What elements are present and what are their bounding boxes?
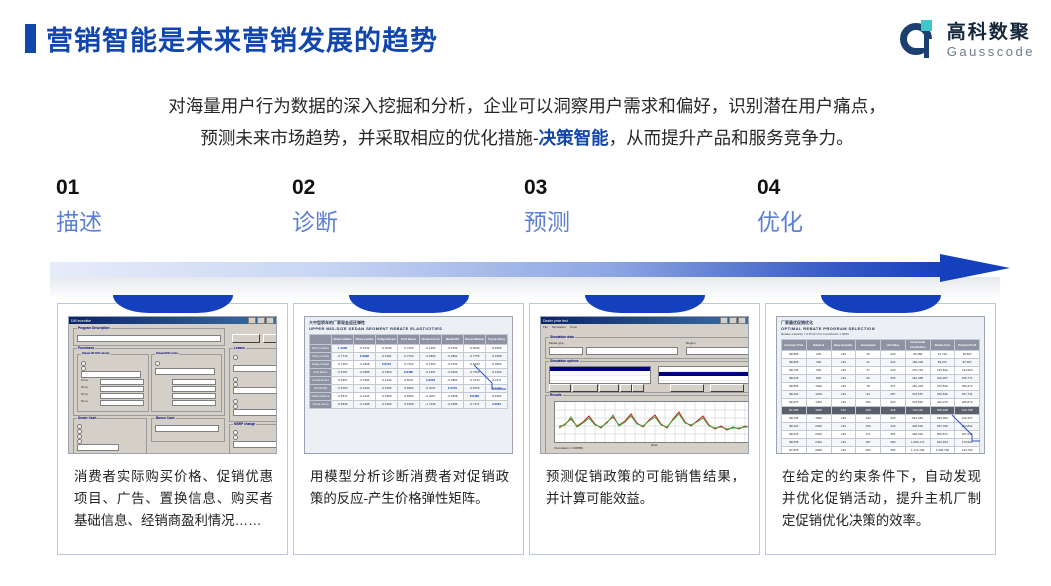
matrix-cell: -0.5047 bbox=[398, 377, 420, 385]
optimal-cell: 140 bbox=[831, 447, 856, 455]
optimal-cell: 333 bbox=[881, 415, 906, 423]
matrix-corner bbox=[310, 335, 332, 345]
matrix-cell: -0.1988 bbox=[354, 401, 376, 409]
diagonal-annotation-line bbox=[472, 363, 506, 397]
edit-button[interactable] bbox=[599, 384, 619, 392]
matrix-cell: 0.9480 bbox=[398, 369, 420, 377]
optimal-cell: 224 bbox=[881, 359, 906, 367]
group-title: Dealer Cash bbox=[77, 416, 97, 420]
move-down-button[interactable] bbox=[632, 384, 644, 392]
menu-simulation[interactable]: Simulation bbox=[552, 325, 566, 329]
optimal-cell: 340,846 bbox=[930, 391, 955, 399]
card-diagnose[interactable]: 大中型轿车的厂家现金返还弹性 UPPER MID-SIZE SEDAN SEGM… bbox=[293, 303, 524, 555]
optimal-cell: 302 bbox=[881, 399, 906, 407]
select-all-button[interactable] bbox=[670, 384, 704, 392]
optimal-cell: $8,905 bbox=[782, 359, 807, 367]
optimal-cell: 631,852 bbox=[905, 399, 930, 407]
windows-simulation-mock: Dealer price test File Simulation Tools … bbox=[541, 317, 748, 453]
group-title: Bonus Cash bbox=[155, 416, 176, 420]
window-menubar[interactable]: File Simulation Tools bbox=[541, 324, 748, 329]
combo-term-60[interactable] bbox=[172, 400, 216, 406]
step-label: 诊断 bbox=[292, 205, 522, 239]
matrix-cell: -0.2794 bbox=[442, 345, 464, 353]
optimal-col-header: Unit Sales bbox=[881, 340, 906, 351]
optimal-cell: 1,083,174 bbox=[905, 439, 930, 447]
save-button[interactable] bbox=[232, 334, 260, 343]
optimal-cell: 140 bbox=[831, 359, 856, 367]
matrix-cell: -0.1808 bbox=[486, 353, 508, 361]
matrix-title-en: UPPER MID-SIZE SEDAN SEGMENT REBATE ELAS… bbox=[309, 326, 508, 332]
group-results: Results bbox=[545, 395, 749, 454]
model-select[interactable] bbox=[586, 347, 678, 355]
region-select[interactable] bbox=[686, 347, 749, 355]
table-row: Chevy Lumina-0.77132.2682-0.1991-0.7793-… bbox=[310, 353, 508, 361]
matrix-cell: -0.6954 bbox=[398, 385, 420, 393]
optimal-cell: 451,323 bbox=[905, 383, 930, 391]
optimal-cell: 140 bbox=[831, 383, 856, 391]
combo-term-36[interactable] bbox=[172, 386, 216, 392]
optimal-col-header: Base Incentive bbox=[831, 340, 856, 351]
optimal-cell: 902,645 bbox=[905, 423, 930, 431]
optimal-col-header: Program Profit bbox=[955, 340, 980, 351]
matrix-cell: -0.2007 bbox=[420, 393, 442, 401]
optimal-cell: 361,058 bbox=[905, 375, 930, 383]
step-label: 描述 bbox=[56, 205, 286, 239]
matrix-cell: -0.3742 bbox=[354, 345, 376, 353]
optimal-cell: 2200 bbox=[806, 431, 831, 439]
optimal-cell: 140 bbox=[831, 407, 856, 415]
card-tab bbox=[349, 295, 469, 313]
optimal-cell: $8,025 bbox=[782, 431, 807, 439]
matrix-col-header: Chevy Lumina bbox=[354, 335, 376, 345]
progress-arrow bbox=[50, 258, 1010, 284]
matrix-cell: -0.1660 bbox=[376, 401, 398, 409]
program-description-input[interactable] bbox=[77, 335, 221, 342]
step-labels-row: 01 描述 02 诊断 03 预测 04 优化 bbox=[0, 175, 1051, 250]
group-title: Leases bbox=[233, 346, 246, 350]
optimal-cell: 208,872 bbox=[955, 399, 980, 407]
term-label: 36 mo. bbox=[81, 386, 88, 389]
matrix-cell: -0.1991 bbox=[376, 353, 398, 361]
card-tab bbox=[821, 295, 941, 313]
step-number: 03 bbox=[524, 175, 754, 201]
group-simulation-options: Simulation options bbox=[545, 361, 749, 393]
matrix-cell: -0.2806 bbox=[420, 353, 442, 361]
matrix-row-header: Ford Taurus bbox=[310, 369, 332, 377]
optimal-cell: 1200 bbox=[806, 391, 831, 399]
step-number: 04 bbox=[757, 175, 987, 201]
optimal-cell: 156 bbox=[856, 423, 881, 431]
term-24-input[interactable] bbox=[100, 379, 144, 385]
step-item-2: 02 诊断 bbox=[292, 175, 522, 239]
table-row: Toyota Camry-0.5645-0.1988-0.1660-0.6189… bbox=[310, 401, 508, 409]
radio-msrp-pct[interactable] bbox=[233, 435, 238, 440]
correlation-text: (Correlation = 0.96585) bbox=[554, 446, 583, 450]
paragraph-line-2b: ，从而提升产品和服务竞争力。 bbox=[609, 128, 854, 148]
optimal-cell: $8,195 bbox=[782, 415, 807, 423]
optimal-cell: 140 bbox=[831, 415, 856, 423]
optimal-cell: $8,115 bbox=[782, 423, 807, 431]
optimal-cell: $8,739 bbox=[782, 367, 807, 375]
optimal-col-header: Customer Price bbox=[782, 340, 807, 351]
matrix-row-header: Mazda 626 bbox=[310, 385, 332, 393]
elasticity-matrix-mock: 大中型轿车的厂家现金返还弹性 UPPER MID-SIZE SEDAN SEGM… bbox=[305, 317, 512, 453]
optimal-cell: 422,970 bbox=[930, 399, 955, 407]
group-title: Simulation options bbox=[549, 359, 580, 363]
results-chart-svg bbox=[555, 402, 749, 442]
optimal-cell: $7,285 bbox=[782, 407, 807, 415]
optimal-cell: 89,672 bbox=[930, 359, 955, 367]
optimal-cell: 140 bbox=[831, 391, 856, 399]
optimal-cell: 62 bbox=[856, 375, 881, 383]
group-title: Simulation data bbox=[549, 335, 575, 339]
combo-term-24[interactable] bbox=[172, 379, 216, 385]
arrow-head-icon bbox=[940, 254, 1010, 282]
optimal-cell: 276,849 bbox=[930, 383, 955, 391]
matrix-col-header: Ford Taurus bbox=[398, 335, 420, 345]
matrix-cell: -0.5497 bbox=[332, 377, 354, 385]
optimal-cell: 90,268 bbox=[905, 351, 930, 359]
optimal-cell: 318 bbox=[881, 407, 906, 415]
logo-square-accent bbox=[921, 20, 932, 31]
matrix-cell: -0.1642 bbox=[376, 377, 398, 385]
paragraph-line-2a: 预测未来市场趋势，并采取相应的优化措施- bbox=[200, 128, 538, 148]
dealer-cash-input[interactable] bbox=[77, 444, 119, 451]
optimal-cell: 1400 bbox=[806, 399, 831, 407]
matrix-cell: -0.6571 bbox=[332, 393, 354, 401]
menu-tools[interactable]: Tools bbox=[570, 325, 577, 329]
matrix-cell: -0.2037 bbox=[420, 385, 442, 393]
optimal-cell: 600 bbox=[806, 367, 831, 375]
optimal-cell: $8,464 bbox=[782, 391, 807, 399]
window-title: D/B incentive bbox=[71, 319, 91, 323]
optimal-cell: 287 bbox=[881, 391, 906, 399]
optimal-cell: 270,754 bbox=[905, 367, 930, 375]
matrix-cell: 0.6712 bbox=[376, 361, 398, 369]
optimal-cell: 812,381 bbox=[905, 415, 930, 423]
bonus-cash-input[interactable] bbox=[155, 425, 219, 432]
add-button[interactable] bbox=[549, 384, 571, 392]
window-controls bbox=[720, 317, 746, 324]
optimal-cell: 2600 bbox=[806, 447, 831, 455]
term-label: 24 mo. bbox=[81, 379, 88, 382]
clear-all-button[interactable] bbox=[710, 384, 744, 392]
optimal-cell: 31 bbox=[856, 359, 881, 367]
card-caption: 消费者实际购买价格、促销优惠项目、广告、置换信息、购买者基础信息、经销商盈利情况… bbox=[74, 466, 273, 532]
matrix-col-header: Buick LeSabre bbox=[332, 335, 354, 345]
table-row: $8,555100014078271451,323276,849180,374 bbox=[782, 383, 980, 391]
optimal-cell: 140 bbox=[856, 415, 881, 423]
matrix-cell: -0.7254 bbox=[398, 345, 420, 353]
optimal-cell: 240 bbox=[881, 367, 906, 375]
card-tab bbox=[113, 295, 233, 313]
optimal-cell: 125 bbox=[856, 407, 881, 415]
scenarios-listbox[interactable] bbox=[549, 366, 651, 384]
logo-name-cn: 高科数聚 bbox=[947, 23, 1035, 42]
matrix-cell: -0.2233 bbox=[354, 385, 376, 393]
residual-subsidy-input[interactable] bbox=[233, 409, 277, 416]
card-optimize[interactable]: 厂家最优促销优化 OPTIMAL REBATE PROGRAM SELECTIO… bbox=[765, 303, 996, 555]
arrow-shaft bbox=[50, 262, 948, 277]
optimal-cell: 349 bbox=[881, 423, 906, 431]
matrix-cell: 4.2561 bbox=[486, 401, 508, 409]
matrix-col-header: Honda Accord bbox=[420, 335, 442, 345]
step-label: 优化 bbox=[757, 205, 987, 239]
optimal-subtitle: Rebate elasticity = 0.8712 Unit Contribu… bbox=[781, 332, 980, 337]
table-row: $8,3751400140109302631,852422,970208,872 bbox=[782, 399, 980, 407]
combo-term-48[interactable] bbox=[172, 393, 216, 399]
optimal-cell: 2000 bbox=[806, 423, 831, 431]
step-item-4: 04 优化 bbox=[757, 175, 987, 239]
optimal-cell: 140 bbox=[831, 423, 856, 431]
optimal-cell: 2400 bbox=[806, 439, 831, 447]
optimal-cell: 140 bbox=[831, 431, 856, 439]
card-caption: 预测促销政策的可能销售结果，并计算可能效益。 bbox=[546, 466, 745, 510]
table-row: Buick LeSabre1.1548-0.3742-0.2018-0.7254… bbox=[310, 345, 508, 353]
optimal-cell: 364 bbox=[881, 431, 906, 439]
paragraph-line-1: 对海量用户行为数据的深入挖掘和分析，企业可以洞察用户需求和偏好，识别潜在用户痛点… bbox=[168, 96, 886, 116]
lease-cash-input[interactable] bbox=[233, 365, 277, 372]
group-leases: Leases bbox=[229, 348, 277, 422]
optimal-cell: 16 bbox=[856, 351, 881, 359]
group-title: Rebate/APR combo bbox=[155, 352, 179, 355]
diagonal-annotation-line bbox=[950, 413, 980, 443]
rebate-value-input[interactable] bbox=[81, 371, 141, 378]
optimal-cell: 271 bbox=[881, 383, 906, 391]
matrix-cell: -0.6787 bbox=[332, 369, 354, 377]
matrix-cell: -0.1895 bbox=[376, 385, 398, 393]
matrix-cell: -0.1896 bbox=[486, 345, 508, 353]
matrix-row-header: Honda Accord bbox=[310, 377, 332, 385]
matrix-cell: -0.2192 bbox=[420, 345, 442, 353]
matrix-cell: -1.7436 bbox=[420, 401, 442, 409]
optimal-cell: 92,657 bbox=[955, 359, 980, 367]
matrix-cell: -0.6754 bbox=[332, 385, 354, 393]
matrix-cell: -0.7110 bbox=[398, 361, 420, 369]
step-number: 01 bbox=[56, 175, 286, 201]
matrix-cell: -0.2794 bbox=[442, 361, 464, 369]
logo-text: 高科数聚 Gausscode bbox=[947, 23, 1035, 58]
term-48-input[interactable] bbox=[100, 393, 144, 399]
optimal-cell: $8,555 bbox=[782, 383, 807, 391]
matrix-cell: -0.2928 bbox=[354, 361, 376, 369]
msrp-change-input[interactable] bbox=[233, 441, 277, 448]
card-screenshot-dialog: D/B incentive Program Description Purcha… bbox=[68, 316, 277, 454]
matrix-cell: 1.1548 bbox=[332, 345, 354, 353]
group-program-description: Program Description bbox=[73, 328, 225, 346]
table-row: $8,90540014031224182,32989,67292,657 bbox=[782, 359, 980, 367]
matrix-cell: -0.1986 bbox=[354, 377, 376, 385]
matrix-cell: -0.7793 bbox=[398, 353, 420, 361]
optimal-col-header: Incremental Contribution bbox=[905, 340, 930, 351]
card-caption: 在给定的约束条件下，自动发现并优化促销活动，提升主机厂制定促销优化决策的效率。 bbox=[782, 466, 981, 532]
radio-not-offered[interactable] bbox=[155, 361, 160, 366]
paragraph-highlight: 决策智能 bbox=[539, 128, 609, 148]
title-accent-bar bbox=[25, 24, 36, 53]
results-chart bbox=[554, 401, 749, 443]
group-rebate-apr-combo: Rebate/APR combo bbox=[151, 354, 222, 412]
models-listbox[interactable] bbox=[658, 366, 749, 384]
intro-paragraph: 对海量用户行为数据的深入挖掘和分析，企业可以洞察用户需求和偏好，识别潜在用户痛点… bbox=[52, 90, 1002, 154]
optimal-cell: 134,903 bbox=[955, 367, 980, 375]
window-title: Dealer price test bbox=[543, 319, 568, 323]
matrix-row-header: Chevy Lumina bbox=[310, 353, 332, 361]
move-up-button[interactable] bbox=[620, 384, 632, 392]
optimal-cell: 203 bbox=[856, 447, 881, 455]
optimal-cell: 48,847 bbox=[955, 351, 980, 359]
optimal-cell: 200 bbox=[806, 351, 831, 359]
combo-value-input[interactable] bbox=[155, 368, 215, 375]
group-purchases: Purchases Rebate OR APR subsidy 24 mo. 3… bbox=[73, 348, 225, 416]
logo-mark-icon bbox=[900, 20, 940, 60]
optimal-cell: $8,995 bbox=[782, 351, 807, 359]
step-item-3: 03 预测 bbox=[524, 175, 754, 239]
matrix-cell: -0.2018 bbox=[376, 345, 398, 353]
optimal-cell: 182,329 bbox=[905, 359, 930, 367]
matrix-cell: -0.2988 bbox=[354, 369, 376, 377]
table-row: $8,73960014047240270,754140,842134,903 bbox=[782, 367, 980, 375]
optimal-cell: 41,710 bbox=[930, 351, 955, 359]
optimal-col-header: Rebate $ bbox=[806, 340, 831, 351]
matrix-row-header: Nissan Maxima bbox=[310, 393, 332, 401]
close-button[interactable] bbox=[263, 334, 277, 343]
matrix-col-header: Mazda 626 bbox=[442, 335, 464, 345]
matrix-cell: 2.2682 bbox=[354, 353, 376, 361]
matrix-cell: -0.2838 bbox=[442, 393, 464, 401]
optimal-cell: 541,587 bbox=[905, 391, 930, 399]
optimal-cell: 144,702 bbox=[955, 447, 980, 455]
slide-root: 营销智能是未来营销发展的趋势 高科数聚 Gausscode 对海量用户行为数据的… bbox=[0, 0, 1051, 586]
optimal-col-header: Rebate Cost bbox=[930, 340, 955, 351]
group-title: MSRP change bbox=[233, 422, 256, 426]
optimal-cell: 722,116 bbox=[905, 407, 930, 415]
optimal-cell: 140 bbox=[831, 367, 856, 375]
window-controls bbox=[248, 317, 274, 324]
radio-no-subsidy[interactable] bbox=[233, 355, 238, 360]
group-title: Results bbox=[549, 393, 563, 397]
table-row: $7,84526001402033951,173,4391,028,760144… bbox=[782, 447, 980, 455]
remove-button[interactable] bbox=[572, 384, 598, 392]
matrix-cell: -0.7371 bbox=[464, 401, 486, 409]
optimal-cell: 1,173,439 bbox=[905, 447, 930, 455]
optimal-cell: 400 bbox=[806, 359, 831, 367]
table-row: $8,64580014062255361,058204,287156,771 bbox=[782, 375, 980, 383]
step-number: 02 bbox=[292, 175, 522, 201]
matrix-cell: -0.2893 bbox=[442, 377, 464, 385]
matrix-row-header: Dodge Intrepid bbox=[310, 361, 332, 369]
page-title: 营销智能是未来营销发展的趋势 bbox=[46, 19, 438, 58]
matrix-col-header: Dodge Intrepid bbox=[376, 335, 398, 345]
matrix-cell: -0.2149 bbox=[354, 393, 376, 401]
matrix-row-header: Toyota Camry bbox=[310, 401, 332, 409]
card-describe[interactable]: D/B incentive Program Description Purcha… bbox=[57, 303, 288, 555]
card-tab bbox=[585, 295, 705, 313]
group-rebate-apr-subsidy: Rebate OR APR subsidy 24 mo. 36 mo. 48 m… bbox=[77, 354, 149, 412]
optimal-cell: 800 bbox=[806, 375, 831, 383]
term-label: 48 mo. bbox=[81, 393, 88, 396]
matrix-cell: -0.6352 bbox=[398, 393, 420, 401]
matrix-cell: 4.3254 bbox=[420, 377, 442, 385]
step-item-1: 01 描述 bbox=[56, 175, 286, 239]
optimal-cell: 1600 bbox=[806, 407, 831, 415]
window-titlebar: Dealer price test bbox=[541, 317, 748, 324]
slide-header: 营销智能是未来营销发展的趋势 高科数聚 Gausscode bbox=[0, 0, 1051, 72]
group-bonus-cash: Bonus Cash bbox=[151, 418, 225, 442]
group-msrp-change: MSRP change bbox=[229, 424, 277, 454]
optimal-cell: 156,771 bbox=[955, 375, 980, 383]
group-dealer-cash: Dealer Cash bbox=[73, 418, 147, 454]
matrix-row-header: Buick LeSabre bbox=[310, 345, 332, 353]
model-type-select[interactable] bbox=[549, 347, 583, 355]
matrix-cell: -0.6189 bbox=[398, 401, 420, 409]
matrix-cell: -0.1869 bbox=[376, 393, 398, 401]
matrix-cell: 2.4791 bbox=[442, 385, 464, 393]
optimal-cell: 197,741 bbox=[955, 391, 980, 399]
brand-logo: 高科数聚 Gausscode bbox=[900, 18, 1035, 62]
logo-name-en: Gausscode bbox=[947, 45, 1035, 58]
card-screenshot-optimal-table: 厂家最优促销优化 OPTIMAL REBATE PROGRAM SELECTIO… bbox=[776, 316, 985, 454]
matrix-cell: -0.2702 bbox=[420, 361, 442, 369]
matrix-cell: -0.5645 bbox=[332, 401, 354, 409]
table-row: $8,464120014094287541,587340,846197,741 bbox=[782, 391, 980, 399]
matrix-col-header: Nissan Maxima bbox=[464, 335, 486, 345]
optimal-cell: 140 bbox=[831, 439, 856, 447]
optimal-cell: 94 bbox=[856, 391, 881, 399]
matrix-col-header: Toyota Camry bbox=[486, 335, 508, 345]
windows-dialog-mock: D/B incentive Program Description Purcha… bbox=[69, 317, 276, 453]
optimal-cell: 78 bbox=[856, 383, 881, 391]
card-caption: 用模型分析诊断消费者对促销政策的反应-产生价格弹性矩阵。 bbox=[310, 466, 509, 510]
optimal-cell: 140,842 bbox=[930, 367, 955, 375]
chart-xlabel: Week bbox=[651, 444, 658, 447]
group-simulation-data: Simulation data Model type Region bbox=[545, 337, 749, 359]
optimal-table-mock: 厂家最优促销优化 OPTIMAL REBATE PROGRAM SELECTIO… bbox=[777, 317, 984, 453]
card-screenshot-elasticity-matrix: 大中型轿车的厂家现金返还弹性 UPPER MID-SIZE SEDAN SEGM… bbox=[304, 316, 513, 454]
optimal-cell: 180,374 bbox=[955, 383, 980, 391]
matrix-cell: -0.7756 bbox=[464, 353, 486, 361]
matrix-cell: -0.1697 bbox=[420, 369, 442, 377]
optimal-cell: 187 bbox=[856, 439, 881, 447]
optimal-cell: 47 bbox=[856, 367, 881, 375]
optimal-cell: $8,375 bbox=[782, 399, 807, 407]
optimal-cell: 204,287 bbox=[930, 375, 955, 383]
matrix-cell: -0.8040 bbox=[464, 345, 486, 353]
term-60-input[interactable] bbox=[100, 400, 144, 406]
group-title: Rebate OR APR subsidy bbox=[81, 352, 111, 355]
matrix-cell: -0.7713 bbox=[332, 353, 354, 361]
logo-bar-shape bbox=[924, 32, 929, 58]
group-title: Program Description bbox=[77, 326, 111, 330]
optimal-cell: 1,028,760 bbox=[930, 447, 955, 455]
card-predict[interactable]: Dealer price test File Simulation Tools … bbox=[529, 303, 760, 555]
term-36-input[interactable] bbox=[100, 386, 144, 392]
region-label: Region bbox=[686, 341, 696, 345]
optimal-cell: 109 bbox=[856, 399, 881, 407]
optimal-cell: $8,535 bbox=[782, 439, 807, 447]
optimal-cell: 395 bbox=[881, 447, 906, 455]
optimal-cell: 255 bbox=[881, 375, 906, 383]
rate-subsidy-input[interactable] bbox=[233, 387, 277, 394]
optimal-cell: 140 bbox=[831, 375, 856, 383]
optimal-cell: 992,910 bbox=[905, 431, 930, 439]
step-label: 预测 bbox=[524, 205, 754, 239]
optimal-cell: $8,645 bbox=[782, 375, 807, 383]
optimal-cell: 140 bbox=[831, 351, 856, 359]
matrix-cell: -0.7204 bbox=[332, 361, 354, 369]
optimal-cell: $7,845 bbox=[782, 447, 807, 455]
matrix-cell: -0.2386 bbox=[442, 401, 464, 409]
menu-file[interactable]: File bbox=[543, 325, 548, 329]
